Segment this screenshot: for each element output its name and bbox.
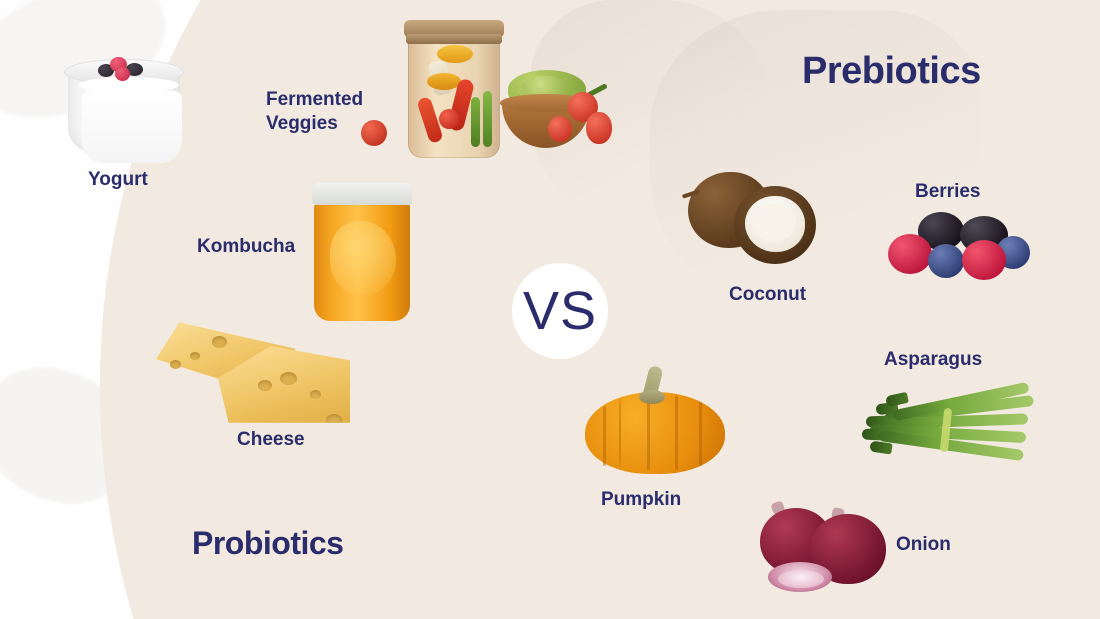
kombucha-label: Kombucha bbox=[197, 235, 295, 259]
kombucha-jar-icon bbox=[307, 183, 417, 323]
tomato-2 bbox=[586, 112, 612, 144]
kombucha-lid bbox=[312, 183, 412, 205]
raspberry-2 bbox=[962, 240, 1006, 280]
cheese-hole bbox=[280, 372, 297, 385]
pumpkin-rib bbox=[647, 396, 650, 470]
pickled-tomato bbox=[439, 109, 459, 129]
cheese-hole bbox=[310, 390, 321, 399]
prebiotics-heading: Prebiotics bbox=[802, 50, 981, 93]
red-onion-icon bbox=[760, 500, 900, 600]
pumpkin-rib bbox=[603, 406, 606, 466]
fermented-veggies-label-line1: Fermented bbox=[266, 88, 363, 112]
pumpkin-body bbox=[585, 392, 725, 474]
cheese-hole bbox=[326, 414, 342, 427]
onion-label: Onion bbox=[896, 533, 951, 557]
yogurt-raspberry-2 bbox=[115, 67, 130, 81]
berries-label: Berries bbox=[915, 180, 981, 204]
fermented-veggies-jar-icon bbox=[400, 8, 618, 168]
yogurt-label: Yogurt bbox=[88, 168, 148, 192]
coconut-icon bbox=[688, 166, 818, 270]
fermented-veggies-label-line2: Veggies bbox=[266, 112, 363, 136]
vs-badge: VS bbox=[512, 263, 608, 359]
asparagus-tip bbox=[885, 392, 909, 407]
cheese-hole bbox=[190, 352, 200, 360]
yogurt-rim-inner bbox=[79, 77, 179, 93]
coconut-label: Coconut bbox=[729, 283, 806, 307]
asparagus-tip bbox=[869, 441, 892, 455]
asparagus-icon bbox=[858, 388, 1038, 468]
fermented-jar-ring bbox=[406, 34, 502, 44]
vs-label: VS bbox=[523, 280, 597, 342]
coconut-flesh bbox=[745, 196, 805, 252]
fermented-veggies-label: Fermented Veggies bbox=[266, 88, 363, 137]
cheese-hole bbox=[170, 360, 181, 369]
cheese-hole bbox=[258, 380, 272, 391]
cheese-hole bbox=[212, 336, 227, 348]
pickled-bean-1 bbox=[471, 97, 480, 147]
probiotics-heading: Probiotics bbox=[192, 525, 343, 562]
blueberry-1 bbox=[928, 244, 964, 278]
pumpkin-rib bbox=[675, 396, 678, 470]
pumpkin-stem-base bbox=[639, 390, 665, 404]
yogurt-jar-icon bbox=[60, 47, 188, 157]
berries-icon bbox=[884, 210, 1034, 290]
pickled-carrot-1 bbox=[437, 45, 473, 63]
swiss-cheese-icon bbox=[150, 312, 350, 432]
pumpkin-rib bbox=[699, 402, 702, 466]
fermented-jar-body bbox=[408, 30, 500, 158]
onion-slice-inner bbox=[778, 570, 824, 588]
kombucha-body bbox=[314, 201, 410, 321]
raspberry-1 bbox=[888, 234, 932, 274]
pumpkin-label: Pumpkin bbox=[601, 488, 681, 512]
cherry-tomato-icon bbox=[361, 120, 387, 146]
pickled-bean-2 bbox=[483, 91, 492, 147]
pumpkin-rib bbox=[619, 398, 621, 468]
kombucha-scoby bbox=[330, 221, 396, 295]
cheese-label: Cheese bbox=[237, 428, 305, 452]
tomato-3 bbox=[548, 116, 572, 142]
asparagus-label: Asparagus bbox=[884, 348, 982, 372]
yogurt-cream bbox=[82, 91, 182, 163]
pumpkin-icon bbox=[585, 366, 725, 476]
infographic-stage: Prebiotics Probiotics VS Yogurt bbox=[0, 0, 1100, 619]
